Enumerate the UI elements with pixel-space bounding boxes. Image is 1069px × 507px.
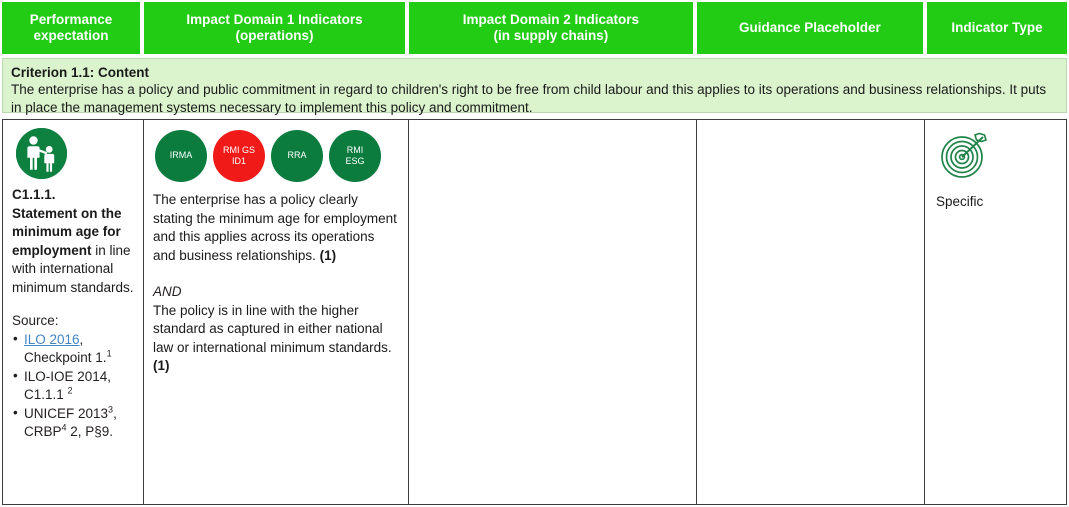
indicator-paragraph-2: The policy is in line with the higher st… xyxy=(153,302,399,376)
indicator-paragraph-2-text: The policy is in line with the higher st… xyxy=(153,303,392,355)
indicator-score-1: (1) xyxy=(320,248,337,263)
header-line-1: Performance xyxy=(30,12,113,28)
indicator-badge-group: IRMA RMI GS ID1 RRA RMI ESG xyxy=(155,130,399,182)
badge-rra[interactable]: RRA xyxy=(271,130,323,182)
badge-line-2: ID1 xyxy=(232,156,246,168)
indicator-paragraph-1-text: The enterprise has a policy clearly stat… xyxy=(153,192,397,263)
badge-line-1: IRMA xyxy=(170,150,193,162)
table-row: C1.1.1. Statement on the minimum age for… xyxy=(2,119,1067,505)
badge-rmi-gs-id1[interactable]: RMI GS ID1 xyxy=(213,130,265,182)
badge-line-1: RMI xyxy=(347,145,364,157)
header-line-1: Guidance Placeholder xyxy=(739,20,881,36)
cell-impact-domain-1: IRMA RMI GS ID1 RRA RMI ESG The enterpri… xyxy=(144,120,409,504)
header-line-1: Impact Domain 1 Indicators xyxy=(186,12,362,28)
cell-performance-expectation: C1.1.1. Statement on the minimum age for… xyxy=(3,120,144,504)
header-line-2: (operations) xyxy=(186,28,362,44)
pe-code: C1.1.1. xyxy=(12,187,56,202)
criterion-description: The enterprise has a policy and public c… xyxy=(11,81,1058,116)
indicator-score-2: (1) xyxy=(153,358,170,373)
header-line-1: Indicator Type xyxy=(951,20,1042,36)
badge-line-1: RRA xyxy=(287,150,306,162)
table-header-row: Performance expectation Impact Domain 1 … xyxy=(2,2,1067,54)
source-rest: UNICEF 2013 xyxy=(24,406,108,421)
header-line-1: Impact Domain 2 Indicators xyxy=(463,12,639,28)
column-header-indicator-type[interactable]: Indicator Type xyxy=(927,2,1067,54)
criterion-band: Criterion 1.1: Content The enterprise ha… xyxy=(2,58,1067,113)
cell-indicator-type: Specific xyxy=(925,120,1066,504)
adult-and-child-icon xyxy=(16,128,67,179)
list-item: ILO-IOE 2014, C1.1.1 2 xyxy=(12,368,134,405)
target-dartboard-icon xyxy=(938,130,1057,187)
criterion-title: Criterion 1.1: Content xyxy=(11,64,1058,81)
source-list: ILO 2016, Checkpoint 1.1 ILO-IOE 2014, C… xyxy=(12,331,134,442)
cell-guidance-placeholder[interactable] xyxy=(697,120,925,504)
header-line-2: expectation xyxy=(30,28,113,44)
indicator-table: Performance expectation Impact Domain 1 … xyxy=(0,0,1069,507)
performance-expectation-text: C1.1.1. Statement on the minimum age for… xyxy=(12,186,134,297)
source-label: Source: xyxy=(12,312,134,331)
column-header-impact-domain-2[interactable]: Impact Domain 2 Indicators (in supply ch… xyxy=(409,2,693,54)
indicator-paragraph-1: The enterprise has a policy clearly stat… xyxy=(153,191,399,265)
indicator-type-label: Specific xyxy=(936,193,1057,211)
list-item: UNICEF 20133, CRBP4 2, P§9. xyxy=(12,405,134,442)
badge-line-2: ESG xyxy=(345,156,364,168)
footnote-marker: 2 xyxy=(68,386,73,396)
badge-irma[interactable]: IRMA xyxy=(155,130,207,182)
badge-rmi-esg[interactable]: RMI ESG xyxy=(329,130,381,182)
source-link-ilo-2016[interactable]: ILO 2016 xyxy=(24,332,80,347)
list-item: ILO 2016, Checkpoint 1.1 xyxy=(12,331,134,368)
footnote-marker: 1 xyxy=(107,349,112,359)
column-header-impact-domain-1[interactable]: Impact Domain 1 Indicators (operations) xyxy=(144,2,405,54)
column-header-performance-expectation[interactable]: Performance expectation xyxy=(2,2,140,54)
cell-impact-domain-2[interactable] xyxy=(409,120,697,504)
indicator-connector: AND xyxy=(153,283,399,302)
column-header-guidance-placeholder[interactable]: Guidance Placeholder xyxy=(697,2,923,54)
source-tail-b: 2, P§9. xyxy=(67,424,114,439)
header-line-2: (in supply chains) xyxy=(463,28,639,44)
badge-line-1: RMI GS xyxy=(223,145,255,157)
